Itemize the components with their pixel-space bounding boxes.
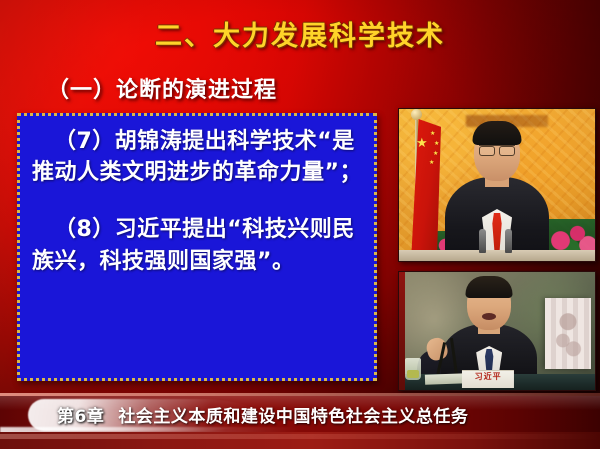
slide-footer: 第6章 社会主义本质和建设中国特色社会主义总任务 bbox=[0, 393, 600, 449]
footer-chapter-label: 第6章 bbox=[57, 402, 104, 427]
xi-jinping-photo-inner: 习近平 bbox=[399, 272, 595, 390]
microphone-1-icon bbox=[479, 229, 486, 253]
microphone-2-icon bbox=[505, 229, 512, 253]
footer-text: 第6章 社会主义本质和建设中国特色社会主义总任务 bbox=[57, 400, 468, 428]
slide-title: 二、大力发展科学技术 bbox=[0, 14, 600, 53]
flag-star-small-3-icon: ★ bbox=[433, 151, 438, 157]
presentation-slide: 二、大力发展科学技术 （一）论断的演进过程 （7）胡锦涛提出科学技术“是推动人类… bbox=[0, 0, 600, 449]
xi-photo-nameplate-text: 习近平 bbox=[462, 373, 514, 381]
hu-photo-podium bbox=[399, 250, 595, 261]
xi-photo-red-trim bbox=[399, 272, 405, 390]
xi-photo-papers bbox=[425, 373, 467, 384]
flag-star-large-icon: ★ bbox=[416, 137, 428, 150]
hu-jintao-photo: ★ ★ ★ ★ ★ bbox=[398, 108, 596, 262]
xi-photo-tea-glass bbox=[405, 358, 421, 380]
xi-photo-figure-mouth bbox=[482, 313, 496, 320]
slide-subtitle: （一）论断的演进过程 bbox=[47, 72, 277, 104]
xi-photo-curtain bbox=[545, 298, 591, 369]
hu-photo-flagpole-finial bbox=[411, 109, 422, 120]
xi-photo-nameplate: 习近平 bbox=[462, 370, 514, 388]
footer-title-label: 社会主义本质和建设中国特色社会主义总任务 bbox=[118, 402, 468, 427]
content-text-box: （7）胡锦涛提出科学技术“是推动人类文明进步的革命力量”； （8）习近平提出“科… bbox=[17, 113, 377, 381]
flag-star-small-1-icon: ★ bbox=[430, 131, 435, 137]
hu-photo-figure-glasses bbox=[479, 145, 515, 155]
hu-photo-figure-hair bbox=[473, 121, 522, 145]
flag-star-small-2-icon: ★ bbox=[434, 141, 439, 147]
flag-star-small-4-icon: ★ bbox=[429, 160, 434, 166]
content-paragraph-7: （7）胡锦涛提出科学技术“是推动人类文明进步的革命力量”； bbox=[32, 126, 362, 188]
hu-jintao-photo-inner: ★ ★ ★ ★ ★ bbox=[399, 109, 595, 261]
xi-jinping-photo: 习近平 bbox=[398, 271, 596, 391]
footer-bottom-sheen bbox=[0, 434, 600, 439]
content-paragraph-8: （8）习近平提出“科技兴则民族兴，科技强则国家强”。 bbox=[32, 214, 362, 276]
xi-photo-figure-hair bbox=[466, 276, 513, 298]
